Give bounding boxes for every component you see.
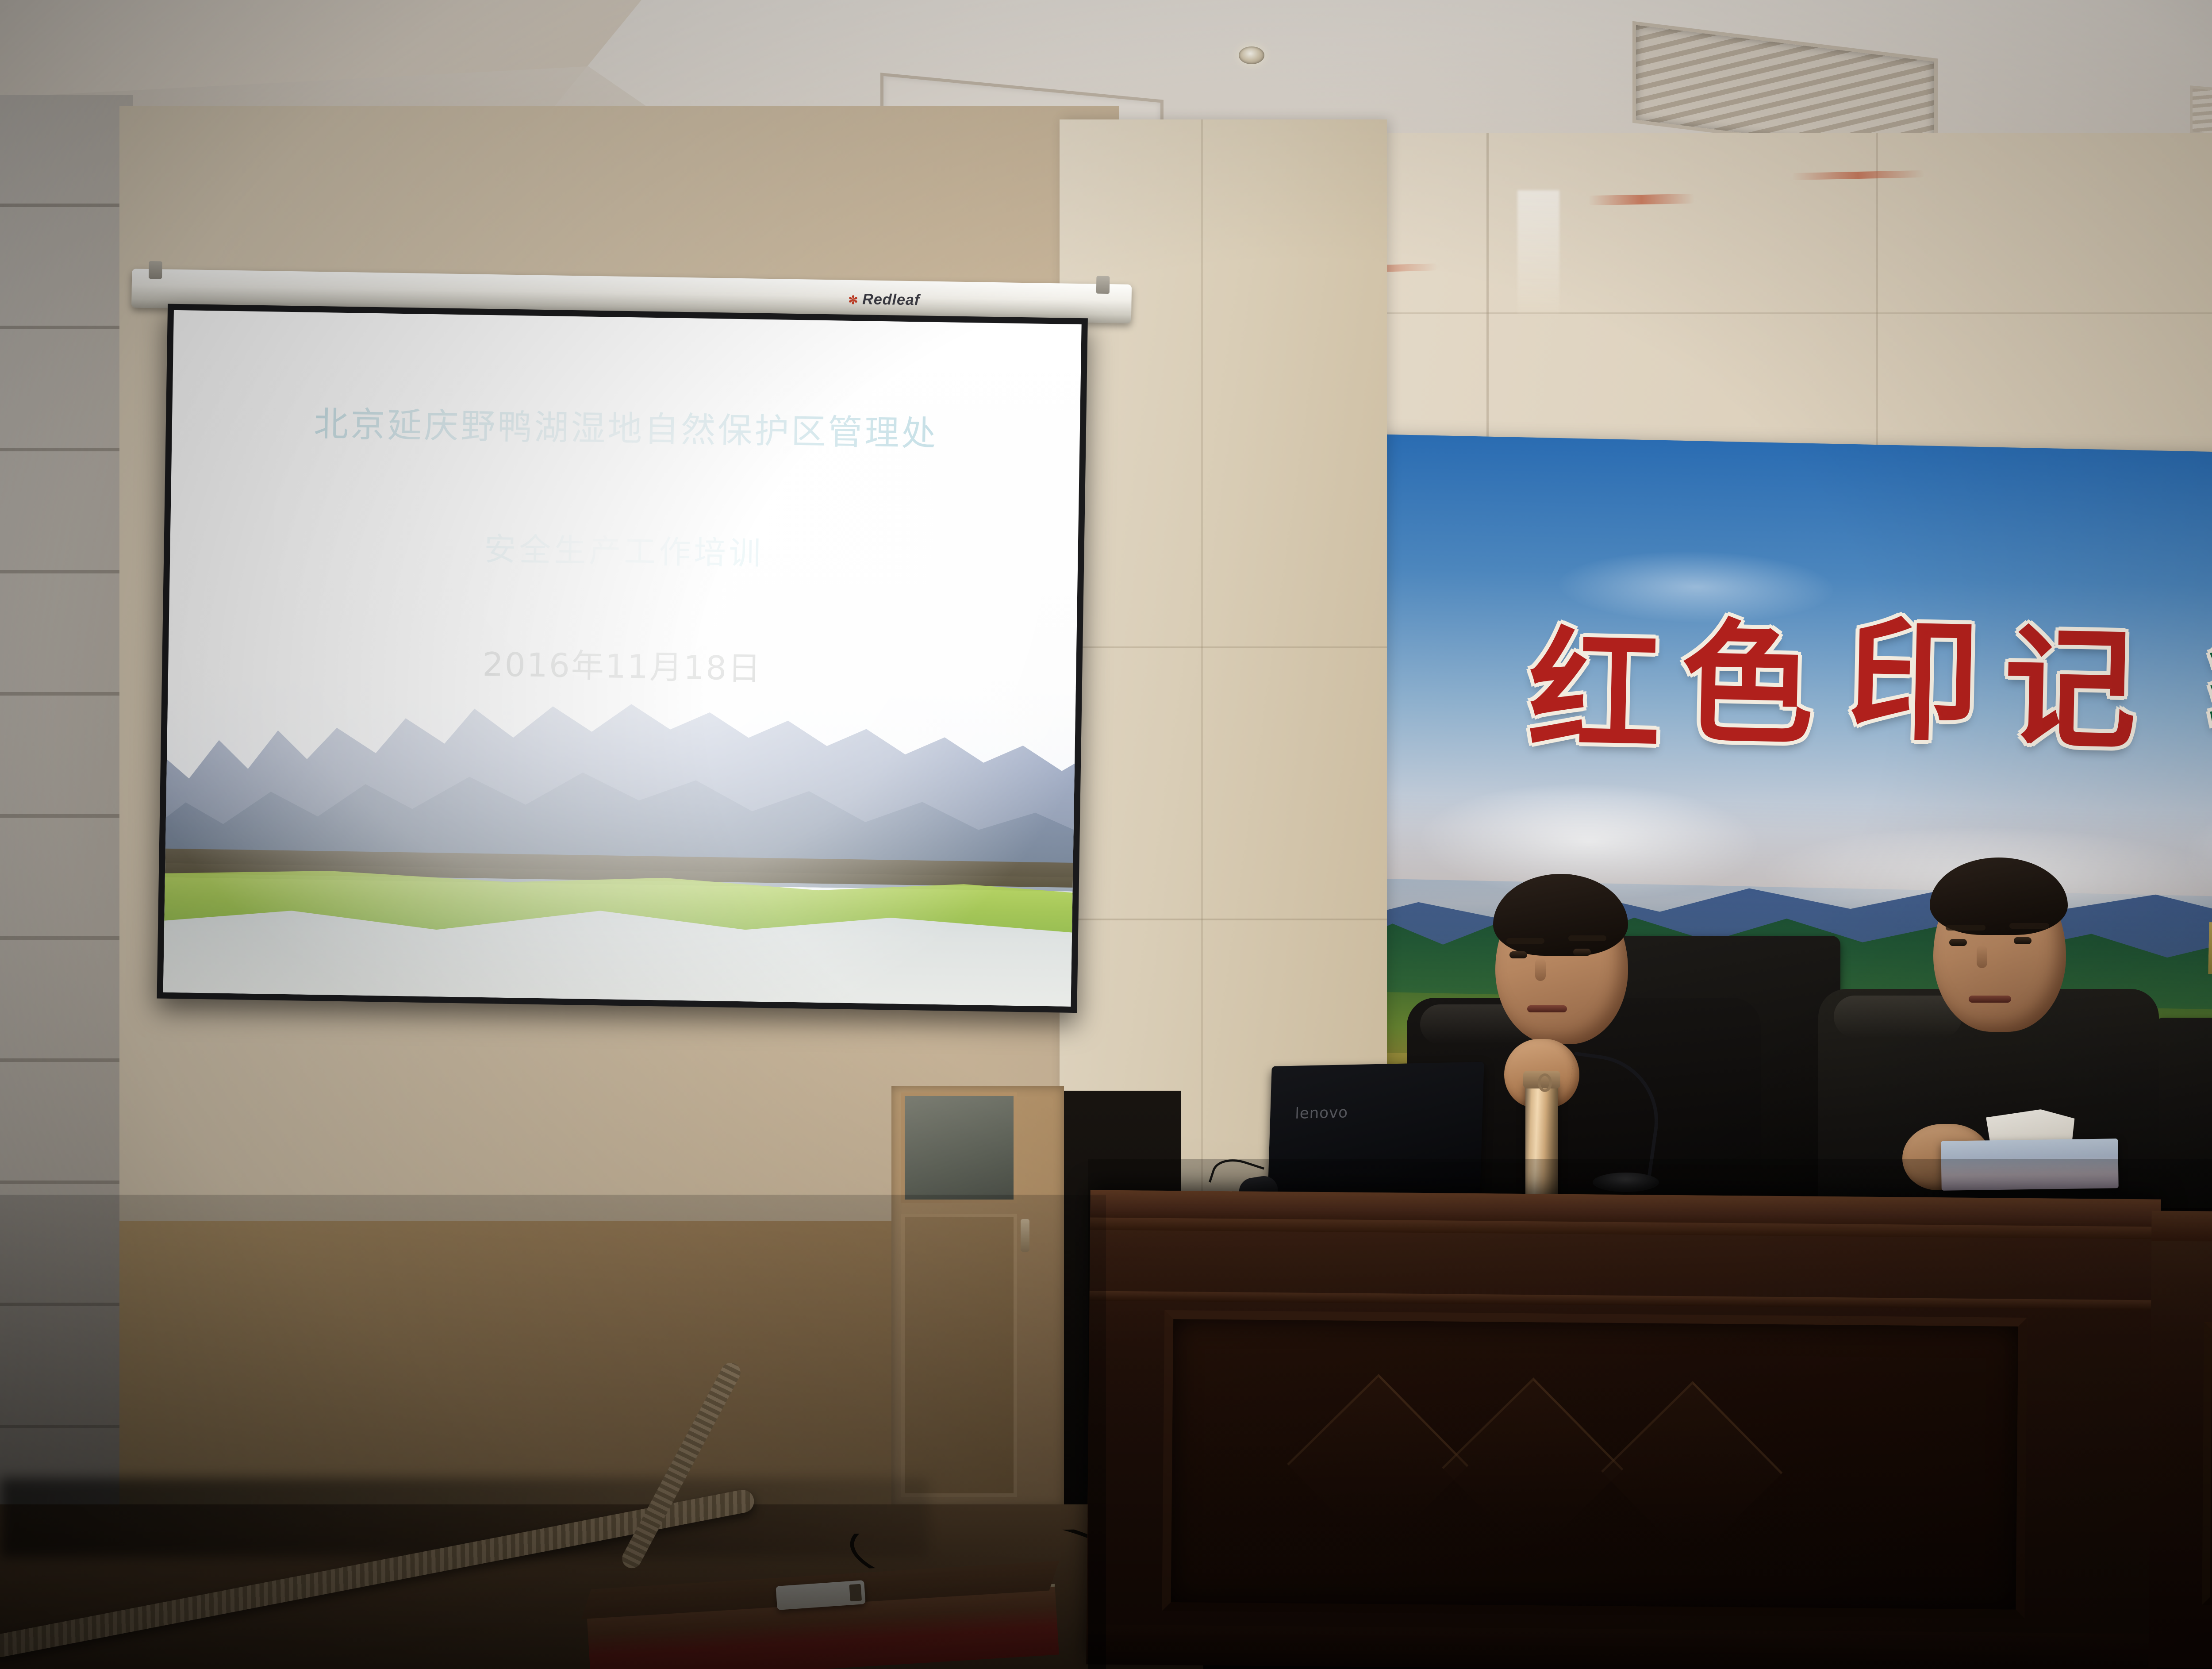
laptop-brand-logo: lenovo (1295, 1104, 1348, 1123)
projection-screen-frame: 北京延庆野鸭湖湿地自然保护区管理处 安全生产工作培训 2016年11月18日 (157, 304, 1088, 1013)
speaker-eye-right (1573, 949, 1591, 956)
podium-rail (1090, 1291, 2160, 1310)
door-handle-icon[interactable] (1021, 1219, 1029, 1252)
room-door[interactable] (891, 1086, 1064, 1507)
presentation-slide: 北京延庆野鸭湖湿地自然保护区管理处 安全生产工作培训 2016年11月18日 (163, 310, 1082, 1007)
attendee-nose (1977, 945, 1987, 968)
attendee-eye-left (1949, 939, 1967, 946)
left-stone-wall (0, 95, 133, 1669)
attendee-brow-right (2009, 923, 2049, 929)
speaker-nose (1535, 958, 1546, 981)
attendee-brow-left (1946, 925, 1985, 931)
tissue-box[interactable] (1941, 1138, 2119, 1191)
brand-text: Redleaf (862, 291, 920, 308)
conference-room-scene: 红 色 印 记 绿 色 — 野 鸭 湖 ✼Redleaf (0, 0, 2212, 1669)
second-table-panel (2202, 1322, 2212, 1607)
panel-diamond-molding (1601, 1381, 1782, 1562)
banner-char-3: 印 (1845, 573, 1982, 767)
attendee-eye-right (2014, 937, 2032, 944)
door-glass-panel (901, 1092, 1017, 1203)
head-table-podium (1086, 1190, 2161, 1669)
panel-diamond-molding (1287, 1374, 1468, 1555)
panel-diamond-molding (1442, 1377, 1623, 1559)
speaker-mouth (1527, 1005, 1567, 1012)
speaker-brow-right (1568, 935, 1606, 941)
slide-photo (163, 674, 1076, 1007)
roller-bracket-left (149, 261, 162, 279)
laptop[interactable]: lenovo (1267, 1062, 1484, 1199)
slide-title: 北京延庆野鸭湖湿地自然保护区管理处 (172, 394, 1080, 458)
thermos-handle-ring (1538, 1073, 1552, 1092)
second-table-section (2148, 1211, 2212, 1669)
leaf-icon: ✼ (848, 293, 858, 307)
projection-screen: ✼Redleaf 北京延庆野鸭湖湿地自然保护区管理处 安全生产工作培训 2016… (120, 269, 1132, 1032)
attendee-shoulder-highlight (1834, 996, 1962, 1038)
podium-front-panel (1162, 1310, 2027, 1619)
speaker-eye-left (1509, 951, 1527, 958)
attendee-mouth (1969, 996, 2011, 1003)
podium-base (1086, 1624, 2157, 1669)
roller-bracket-right (1096, 276, 1110, 294)
microphone-base (1593, 1173, 1659, 1192)
slide-subtitle: 安全生产工作培训 (170, 518, 1078, 579)
door-wood-panel (901, 1214, 1017, 1497)
banner-char-4: 记 (2002, 580, 2139, 775)
wall-paint-mark (1588, 194, 1694, 205)
speaker-brow-left (1506, 938, 1544, 944)
projector-screen-brand: ✼Redleaf (848, 291, 920, 309)
thermos-bottle[interactable] (1525, 1081, 1558, 1201)
banner-char-1: 红 (1526, 584, 1663, 778)
second-table-top (2151, 1211, 2212, 1244)
banner-char-2: 色 (1679, 576, 1816, 770)
wall-plaster-patch (1517, 190, 1559, 314)
recessed-spotlight-icon (1239, 46, 1264, 64)
